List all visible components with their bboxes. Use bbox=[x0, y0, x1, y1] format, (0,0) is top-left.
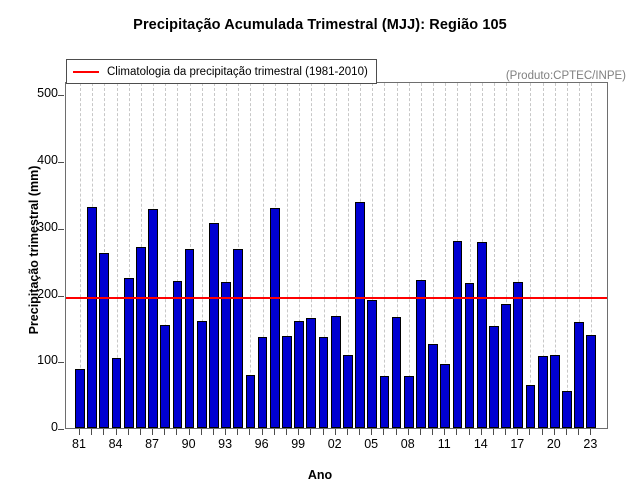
x-tick-23: 23 bbox=[575, 437, 605, 451]
bar-15 bbox=[489, 326, 499, 428]
bar-10 bbox=[428, 344, 438, 428]
y-tick-mark-500 bbox=[58, 95, 64, 96]
page-title: Precipitação Acumulada Trimestral (MJJ):… bbox=[0, 17, 640, 33]
x-tick-mark-10 bbox=[432, 429, 433, 435]
bar-96 bbox=[258, 337, 268, 428]
bar-88 bbox=[160, 325, 170, 428]
x-tick-mark-02 bbox=[335, 429, 336, 435]
bar-95 bbox=[246, 375, 256, 428]
y-tick-0: 0 bbox=[24, 420, 58, 434]
x-tick-mark-01 bbox=[323, 429, 324, 435]
bar-19 bbox=[538, 356, 548, 428]
y-tick-mark-200 bbox=[58, 296, 64, 297]
x-tick-mark-09 bbox=[420, 429, 421, 435]
x-tick-mark-86 bbox=[140, 429, 141, 435]
x-tick-17: 17 bbox=[502, 437, 532, 451]
x-tick-mark-97 bbox=[274, 429, 275, 435]
bar-85 bbox=[124, 278, 134, 428]
y-tick-500: 500 bbox=[24, 86, 58, 100]
x-tick-mark-06 bbox=[383, 429, 384, 435]
x-tick-81: 81 bbox=[64, 437, 94, 451]
x-tick-mark-19 bbox=[542, 429, 543, 435]
x-tick-mark-92 bbox=[213, 429, 214, 435]
x-tick-mark-96 bbox=[262, 429, 263, 435]
x-tick-mark-23 bbox=[590, 429, 591, 435]
source-note: (Produto:CPTEC/INPE) bbox=[506, 70, 626, 82]
x-tick-mark-91 bbox=[201, 429, 202, 435]
x-tick-mark-85 bbox=[128, 429, 129, 435]
x-tick-mark-12 bbox=[456, 429, 457, 435]
x-tick-mark-18 bbox=[529, 429, 530, 435]
x-tick-mark-15 bbox=[493, 429, 494, 435]
bar-97 bbox=[270, 208, 280, 428]
x-tick-mark-82 bbox=[91, 429, 92, 435]
legend-item-label: Climatologia da precipitação trimestral … bbox=[107, 66, 368, 78]
bar-04 bbox=[355, 202, 365, 428]
x-tick-08: 08 bbox=[393, 437, 423, 451]
x-tick-mark-84 bbox=[116, 429, 117, 435]
bar-84 bbox=[112, 358, 122, 428]
bar-18 bbox=[526, 385, 536, 428]
bar-11 bbox=[440, 364, 450, 428]
bar-01 bbox=[319, 337, 329, 428]
x-tick-87: 87 bbox=[137, 437, 167, 451]
gridline bbox=[530, 83, 531, 428]
x-tick-mark-08 bbox=[408, 429, 409, 435]
x-tick-mark-94 bbox=[237, 429, 238, 435]
x-tick-02: 02 bbox=[320, 437, 350, 451]
x-tick-93: 93 bbox=[210, 437, 240, 451]
x-tick-mark-89 bbox=[176, 429, 177, 435]
bar-86 bbox=[136, 247, 146, 429]
bar-92 bbox=[209, 223, 219, 428]
bar-08 bbox=[404, 376, 414, 428]
x-tick-mark-87 bbox=[152, 429, 153, 435]
bar-89 bbox=[173, 281, 183, 428]
bar-21 bbox=[562, 391, 572, 428]
x-tick-20: 20 bbox=[539, 437, 569, 451]
x-tick-mark-00 bbox=[310, 429, 311, 435]
bar-12 bbox=[453, 241, 463, 429]
y-tick-mark-0 bbox=[58, 429, 64, 430]
x-tick-11: 11 bbox=[429, 437, 459, 451]
bar-03 bbox=[343, 355, 353, 428]
x-tick-mark-07 bbox=[396, 429, 397, 435]
plot-area bbox=[65, 82, 608, 429]
bar-00 bbox=[306, 318, 316, 428]
x-tick-mark-04 bbox=[359, 429, 360, 435]
x-tick-mark-99 bbox=[298, 429, 299, 435]
y-tick-mark-100 bbox=[58, 362, 64, 363]
y-tick-100: 100 bbox=[24, 353, 58, 367]
x-tick-mark-83 bbox=[103, 429, 104, 435]
x-tick-mark-93 bbox=[225, 429, 226, 435]
x-tick-mark-05 bbox=[371, 429, 372, 435]
y-axis-tick-labels: 0100200300400500 bbox=[20, 0, 58, 500]
gridline bbox=[567, 83, 568, 428]
bar-99 bbox=[294, 321, 304, 428]
x-tick-mark-17 bbox=[517, 429, 518, 435]
bar-87 bbox=[148, 209, 158, 428]
legend-line-swatch bbox=[73, 71, 99, 73]
x-tick-mark-16 bbox=[505, 429, 506, 435]
x-tick-mark-22 bbox=[578, 429, 579, 435]
x-tick-mark-14 bbox=[481, 429, 482, 435]
x-tick-mark-11 bbox=[444, 429, 445, 435]
bar-06 bbox=[380, 376, 390, 428]
bar-14 bbox=[477, 242, 487, 428]
bar-07 bbox=[392, 317, 402, 428]
bar-09 bbox=[416, 280, 426, 428]
x-tick-05: 05 bbox=[356, 437, 386, 451]
x-tick-mark-13 bbox=[469, 429, 470, 435]
bar-20 bbox=[550, 355, 560, 428]
x-tick-14: 14 bbox=[466, 437, 496, 451]
bar-13 bbox=[465, 283, 475, 428]
y-tick-400: 400 bbox=[24, 153, 58, 167]
bar-23 bbox=[586, 335, 596, 428]
x-tick-99: 99 bbox=[283, 437, 313, 451]
x-tick-84: 84 bbox=[101, 437, 131, 451]
x-tick-mark-20 bbox=[554, 429, 555, 435]
bar-16 bbox=[501, 304, 511, 428]
bar-90 bbox=[185, 249, 195, 429]
x-tick-mark-03 bbox=[347, 429, 348, 435]
climatology-line bbox=[66, 297, 607, 299]
bar-93 bbox=[221, 282, 231, 428]
x-axis-label: Ano bbox=[0, 468, 640, 482]
x-tick-90: 90 bbox=[174, 437, 204, 451]
bar-22 bbox=[574, 322, 584, 428]
bar-83 bbox=[99, 253, 109, 428]
bar-94 bbox=[233, 249, 243, 428]
x-tick-mark-90 bbox=[189, 429, 190, 435]
chart-figure: Precipitação Acumulada Trimestral (MJJ):… bbox=[0, 0, 640, 500]
x-tick-mark-95 bbox=[249, 429, 250, 435]
bar-17 bbox=[513, 282, 523, 428]
x-tick-mark-81 bbox=[79, 429, 80, 435]
y-tick-mark-400 bbox=[58, 162, 64, 163]
x-tick-mark-21 bbox=[566, 429, 567, 435]
bar-91 bbox=[197, 321, 207, 428]
y-tick-300: 300 bbox=[24, 220, 58, 234]
bar-02 bbox=[331, 316, 341, 428]
bar-82 bbox=[87, 207, 97, 428]
y-tick-200: 200 bbox=[24, 287, 58, 301]
bar-81 bbox=[75, 369, 85, 428]
x-tick-mark-88 bbox=[164, 429, 165, 435]
bar-05 bbox=[367, 300, 377, 428]
chart-legend: Climatologia da precipitação trimestral … bbox=[66, 59, 377, 84]
y-tick-mark-300 bbox=[58, 229, 64, 230]
bar-98 bbox=[282, 336, 292, 428]
x-tick-96: 96 bbox=[247, 437, 277, 451]
x-tick-mark-98 bbox=[286, 429, 287, 435]
